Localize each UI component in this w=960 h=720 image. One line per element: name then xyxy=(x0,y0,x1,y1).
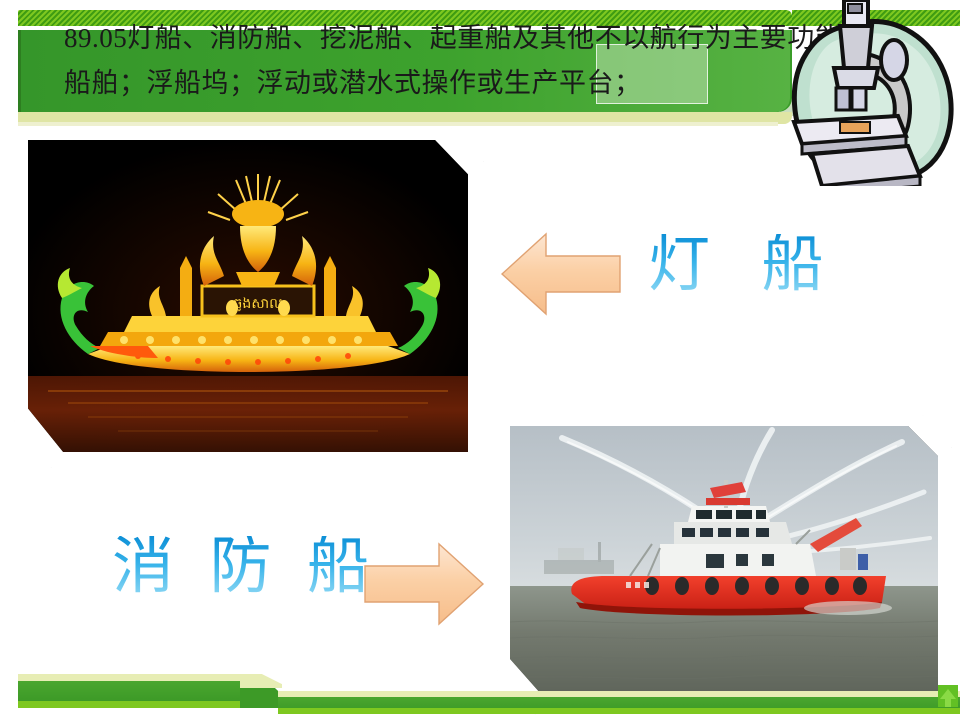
banner-left-edge xyxy=(18,30,21,112)
lightship-photo-image: ឆ្លង​សាល xyxy=(28,140,468,452)
footer-green-left xyxy=(18,681,250,701)
svg-text:ឆ្លង​សាល: ឆ្លង​សាល xyxy=(234,296,283,312)
banner-pale-band-light xyxy=(18,122,778,126)
arrow-to-lightship-photo[interactable] xyxy=(498,228,624,320)
fireboat-photo-image xyxy=(510,426,938,700)
fireboat-caption: 消 防 船 xyxy=(112,536,379,598)
footer-lime-left xyxy=(18,701,268,708)
lightship-photo[interactable]: ឆ្លង​សាល xyxy=(14,128,484,468)
green-corner-arrow-icon[interactable] xyxy=(936,685,958,715)
microscope-icon xyxy=(748,0,960,186)
footer-lime-right xyxy=(278,708,960,714)
footer-pale-left xyxy=(18,674,248,681)
lightship-caption: 灯 船 xyxy=(648,234,842,296)
fireboat-photo[interactable] xyxy=(497,415,952,715)
footer-step-highlight xyxy=(240,674,282,688)
slide-canvas: 89.05灯船、消防船、挖泥船、起重船及其他不以航行为主要功能的船舶；浮船坞；浮… xyxy=(0,0,960,720)
